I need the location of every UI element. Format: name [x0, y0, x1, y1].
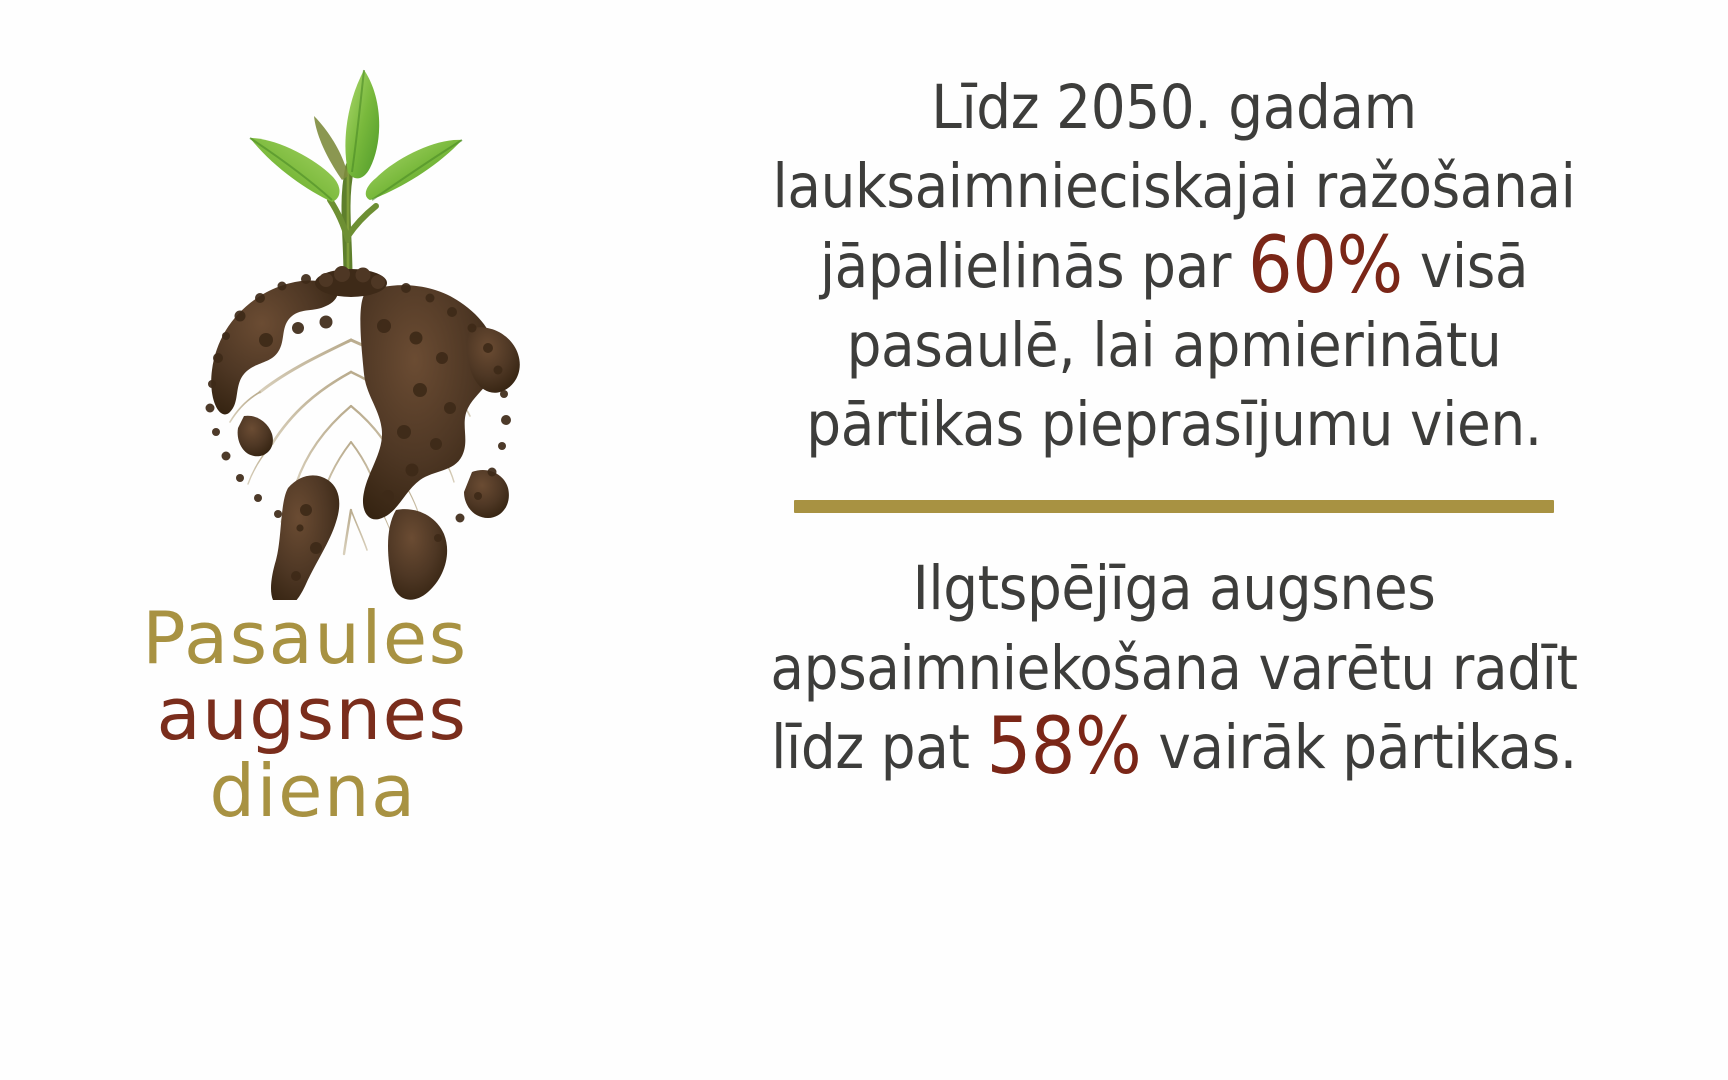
statistic-bottom: Ilgtspējīga augsnes apsaimniekošana varē…: [689, 549, 1659, 787]
stat-top-line-1: Līdz 2050. gadam: [689, 68, 1659, 147]
section-divider: [794, 500, 1554, 513]
wordmark-line-diena: diena: [6, 753, 620, 829]
statistic-top: Līdz 2050. gadam lauksaimnieciskajai raž…: [689, 68, 1659, 464]
statistics-panel: Līdz 2050. gadam lauksaimnieciskajai raž…: [620, 0, 1728, 1080]
stat-bottom-highlight-after: vairāk pārtikas.: [1141, 712, 1576, 783]
stat-top-highlight-before: jāpalielinās par: [820, 231, 1248, 302]
logo-panel: Pasaules augsnes diena: [0, 0, 620, 1080]
stat-bottom-percentage-value: 58%: [987, 702, 1142, 792]
stat-bottom-line-1: Ilgtspējīga augsnes: [689, 549, 1659, 628]
stat-bottom-highlight-line: līdz pat 58% vairāk pārtikas.: [689, 708, 1659, 787]
poster-root: Pasaules augsnes diena Līdz 2050. gadam …: [0, 0, 1728, 1080]
stat-top-line-4: pasaulē, lai apmierinātu: [689, 306, 1659, 385]
wordmark-line-augsnes: augsnes: [4, 676, 620, 752]
stat-bottom-line-2: apsaimniekošana varētu radīt: [689, 629, 1659, 708]
stat-top-percentage-value: 60%: [1248, 221, 1403, 311]
stat-top-line-5: pārtikas pieprasījumu vien.: [689, 385, 1659, 464]
stat-top-highlight-line: jāpalielinās par 60% visā: [689, 227, 1659, 306]
stat-top-line-2: lauksaimnieciskajai ražošanai: [689, 147, 1659, 226]
soil-globe-with-seedling-icon: [120, 40, 550, 600]
seedling-plant: [250, 70, 462, 297]
stat-top-highlight-after: visā: [1403, 231, 1528, 302]
wordmark-line-pasaules: Pasaules: [0, 600, 620, 676]
stat-bottom-highlight-before: līdz pat: [771, 712, 986, 783]
logo-wordmark: Pasaules augsnes diena: [0, 600, 620, 829]
